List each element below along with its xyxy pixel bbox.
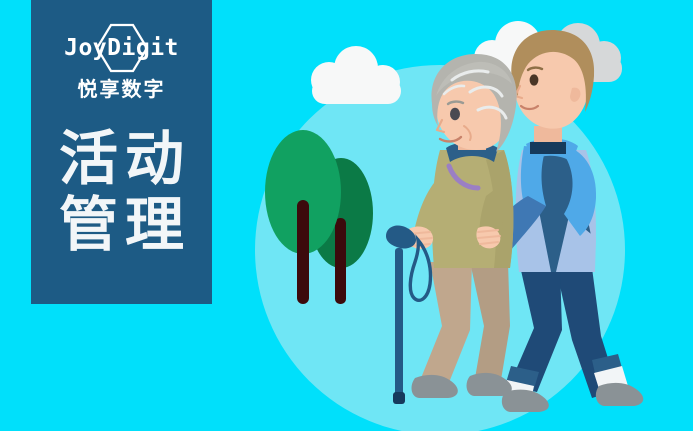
page-title: 活动 管理	[52, 126, 191, 258]
man-inner-collar	[530, 142, 566, 154]
page-title-line-2: 管理	[52, 192, 191, 258]
brand-logo-mark: JoyDigit	[58, 26, 186, 70]
brand-chinese-name: 悦享数字	[78, 80, 166, 100]
cane-shaft	[395, 248, 403, 398]
brand-block: JoyDigit 悦享数字	[58, 26, 186, 100]
title-panel: JoyDigit 悦享数字 活动 管理	[31, 0, 212, 304]
brand-wordmark: JoyDigit	[64, 37, 179, 60]
cane-tip	[393, 392, 405, 404]
poster-canvas: JoyDigit 悦享数字 活动 管理	[0, 0, 693, 431]
woman-eye	[450, 108, 460, 120]
page-title-line-1: 活动	[52, 126, 191, 192]
man-eye	[530, 74, 539, 85]
